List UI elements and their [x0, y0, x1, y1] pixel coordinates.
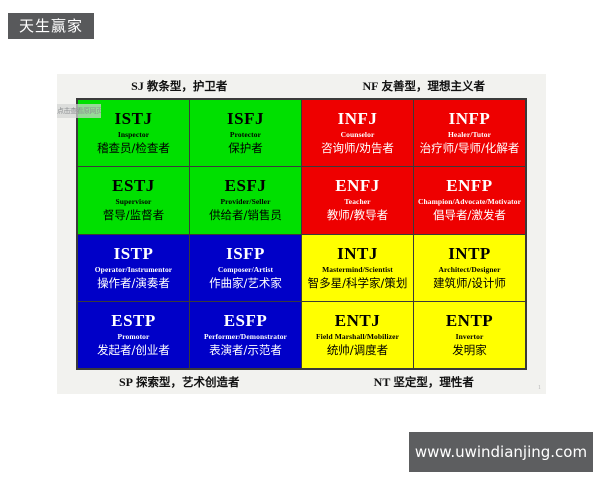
- type-chinese-name: 统帅/调度者: [327, 343, 388, 358]
- type-chinese-name: 供给者/销售员: [209, 208, 282, 223]
- type-cell-infp[interactable]: INFP Healer/Tutor 治疗师/导师/化解者: [414, 100, 525, 166]
- scan-artifact-overlay: 点击查看原网页: [57, 104, 101, 118]
- group-code-nt: NT: [374, 375, 391, 389]
- type-english-name: Promotor: [118, 330, 150, 343]
- type-code: INTJ: [337, 244, 378, 263]
- brand-badge: 天生赢家: [8, 13, 94, 39]
- site-watermark: www.uwindianjing.com: [409, 432, 593, 472]
- type-cell-isfj[interactable]: ISFJ Protector 保护者: [190, 100, 301, 166]
- group-text-nf: 友善型，理想主义者: [382, 79, 486, 93]
- group-text-sj: 教条型，护卫者: [147, 79, 228, 93]
- type-chinese-name: 发明家: [452, 343, 487, 358]
- type-chinese-name: 表演者/示范者: [209, 343, 282, 358]
- type-cell-estp[interactable]: ESTP Promotor 发起者/创业者: [78, 302, 189, 368]
- type-english-name: Mastermind/Scientist: [322, 263, 393, 276]
- group-code-sp: SP: [119, 375, 133, 389]
- type-cell-esfp[interactable]: ESFP Performer/Demonstrator 表演者/示范者: [190, 302, 301, 368]
- type-chinese-name: 保护者: [228, 141, 263, 156]
- type-cell-entp[interactable]: ENTP Invertor 发明家: [414, 302, 525, 368]
- type-english-name: Supervisor: [115, 195, 151, 208]
- group-code-nf: NF: [363, 79, 379, 93]
- type-cell-enfj[interactable]: ENFJ Teacher 教师/教导者: [302, 167, 413, 233]
- type-code: INFP: [449, 109, 491, 128]
- type-cell-istp[interactable]: ISTP Operator/Instrumentor 操作者/演奏者: [78, 235, 189, 301]
- type-chinese-name: 操作者/演奏者: [97, 276, 170, 291]
- type-chinese-name: 稽查员/检查者: [97, 141, 170, 156]
- type-code: ENFP: [446, 176, 492, 195]
- type-code: ISFJ: [227, 109, 264, 128]
- group-label-sp: SP探索型，艺术创造者: [57, 370, 302, 394]
- type-english-name: Invertor: [456, 330, 484, 343]
- group-text-nt: 坚定型，理性者: [393, 375, 474, 389]
- type-chinese-name: 倡导者/激发者: [433, 208, 506, 223]
- type-english-name: Field Marshall/Mobilizer: [316, 330, 399, 343]
- type-english-name: Inspector: [118, 128, 149, 141]
- type-cell-entj[interactable]: ENTJ Field Marshall/Mobilizer 统帅/调度者: [302, 302, 413, 368]
- type-english-name: Architect/Designer: [438, 263, 500, 276]
- type-cell-infj[interactable]: INFJ Counselor 咨询师/劝告者: [302, 100, 413, 166]
- type-cell-isfp[interactable]: ISFP Composer/Artist 作曲家/艺术家: [190, 235, 301, 301]
- type-code: ESTJ: [112, 176, 155, 195]
- type-code: ISFP: [226, 244, 265, 263]
- type-english-name: Performer/Demonstrator: [204, 330, 287, 343]
- top-group-labels: SJ教条型，护卫者 NF友善型，理想主义者: [57, 74, 546, 98]
- type-chinese-name: 教师/教导者: [327, 208, 388, 223]
- type-code: ENFJ: [335, 176, 380, 195]
- type-code: ENTJ: [335, 311, 380, 330]
- type-chinese-name: 智多星/科学家/策划: [308, 276, 408, 291]
- type-code: ISTP: [114, 244, 154, 263]
- type-cell-intj[interactable]: INTJ Mastermind/Scientist 智多星/科学家/策划: [302, 235, 413, 301]
- type-english-name: Provider/Seller: [220, 195, 270, 208]
- type-chinese-name: 建筑师/设计师: [433, 276, 506, 291]
- type-code: ENTP: [446, 311, 493, 330]
- page-marker: 1: [538, 385, 541, 391]
- type-chinese-name: 发起者/创业者: [97, 343, 170, 358]
- type-english-name: Operator/Instrumentor: [95, 263, 173, 276]
- bottom-group-labels: SP探索型，艺术创造者 NT坚定型，理性者: [57, 370, 546, 394]
- type-chinese-name: 作曲家/艺术家: [209, 276, 282, 291]
- type-english-name: Healer/Tutor: [448, 128, 491, 141]
- type-cell-enfp[interactable]: ENFP Champion/Advocate/Motivator 倡导者/激发者: [414, 167, 525, 233]
- type-code: INFJ: [338, 109, 378, 128]
- mbti-type-grid: ISTJ Inspector 稽查员/检查者 ISFJ Protector 保护…: [76, 98, 527, 370]
- mbti-chart-card: SJ教条型，护卫者 NF友善型，理想主义者 ISTJ Inspector 稽查员…: [57, 74, 546, 394]
- type-code: ESFJ: [225, 176, 267, 195]
- type-code: ISTJ: [115, 109, 153, 128]
- type-english-name: Champion/Advocate/Motivator: [418, 195, 521, 208]
- type-code: INTP: [448, 244, 491, 263]
- group-text-sp: 探索型，艺术创造者: [136, 375, 240, 389]
- group-label-sj: SJ教条型，护卫者: [57, 74, 302, 98]
- type-cell-esfj[interactable]: ESFJ Provider/Seller 供给者/销售员: [190, 167, 301, 233]
- type-chinese-name: 咨询师/劝告者: [321, 141, 394, 156]
- type-chinese-name: 治疗师/导师/化解者: [420, 141, 520, 156]
- group-label-nt: NT坚定型，理性者: [302, 370, 547, 394]
- type-english-name: Protector: [230, 128, 261, 141]
- type-english-name: Composer/Artist: [218, 263, 273, 276]
- type-cell-estj[interactable]: ESTJ Supervisor 督导/监督者: [78, 167, 189, 233]
- type-cell-intp[interactable]: INTP Architect/Designer 建筑师/设计师: [414, 235, 525, 301]
- type-chinese-name: 督导/监督者: [103, 208, 164, 223]
- group-label-nf: NF友善型，理想主义者: [302, 74, 547, 98]
- type-english-name: Counselor: [341, 128, 375, 141]
- group-code-sj: SJ: [131, 79, 144, 93]
- type-code: ESFP: [224, 311, 268, 330]
- type-english-name: Teacher: [344, 195, 370, 208]
- type-code: ESTP: [111, 311, 156, 330]
